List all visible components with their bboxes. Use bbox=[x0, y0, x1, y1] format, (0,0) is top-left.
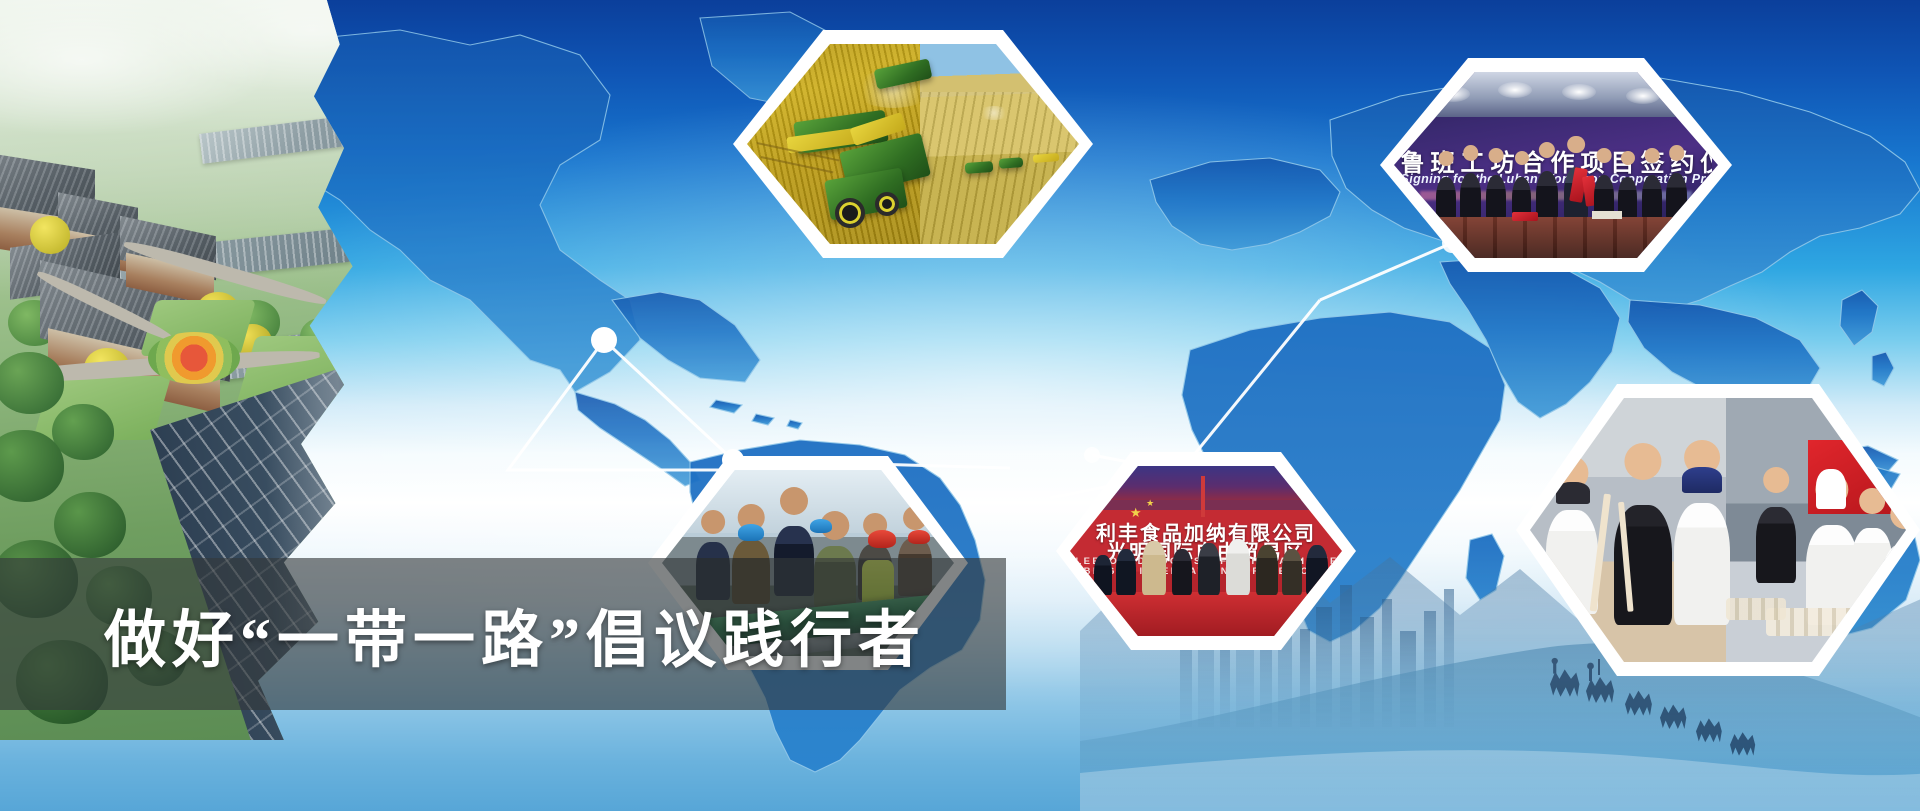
banner-root: 鲁班工坊合作项目签约仪式 Signing for the Luban Works… bbox=[0, 0, 1920, 811]
page-title: 做好“一带一路”倡议践行者 bbox=[0, 558, 1006, 710]
culinary-training-image bbox=[1530, 398, 1906, 662]
agriculture-harvest-image bbox=[747, 44, 1079, 244]
luban-signing-image: 鲁班工坊合作项目签约仪式 Signing for the Luban Works… bbox=[1394, 72, 1718, 258]
ghana-ceremony-image: ★ ★ 利丰食品加纳有限公司 光明国际自由贸易区 LEEFOUND FOOD S… bbox=[1070, 466, 1342, 636]
